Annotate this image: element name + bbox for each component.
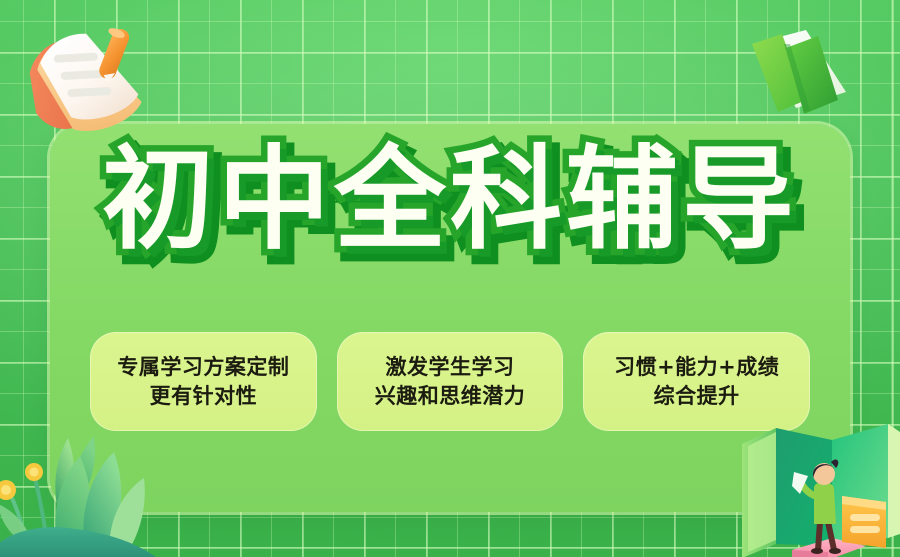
feature-2-line-1: 激发学生学习 xyxy=(386,355,515,379)
feature-3-line-1: 习惯+能力+成绩 xyxy=(614,355,779,379)
feature-box-2[interactable]: 激发学生学习 兴趣和思维潜力 xyxy=(337,332,564,431)
open-book-icon xyxy=(730,22,870,137)
feature-1-line-1: 专属学习方案定制 xyxy=(117,355,289,379)
feature-3-line-2: 综合提升 xyxy=(654,384,740,408)
plants-icon xyxy=(0,398,184,557)
promotional-banner: 初中全科辅导 初中全科辅导 专属学习方案定制 更有针对性 激发学生学习 兴趣和思… xyxy=(0,0,900,557)
feature-2-line-2: 兴趣和思维潜力 xyxy=(375,384,526,408)
student-reading-illustration xyxy=(736,418,900,557)
page-title: 初中全科辅导 xyxy=(50,140,850,260)
feature-box-3[interactable]: 习惯+能力+成绩 综合提升 xyxy=(583,332,810,431)
feature-list: 专属学习方案定制 更有针对性 激发学生学习 兴趣和思维潜力 习惯+能力+成绩 综… xyxy=(90,332,810,431)
notebook-pencil-icon xyxy=(14,18,164,148)
